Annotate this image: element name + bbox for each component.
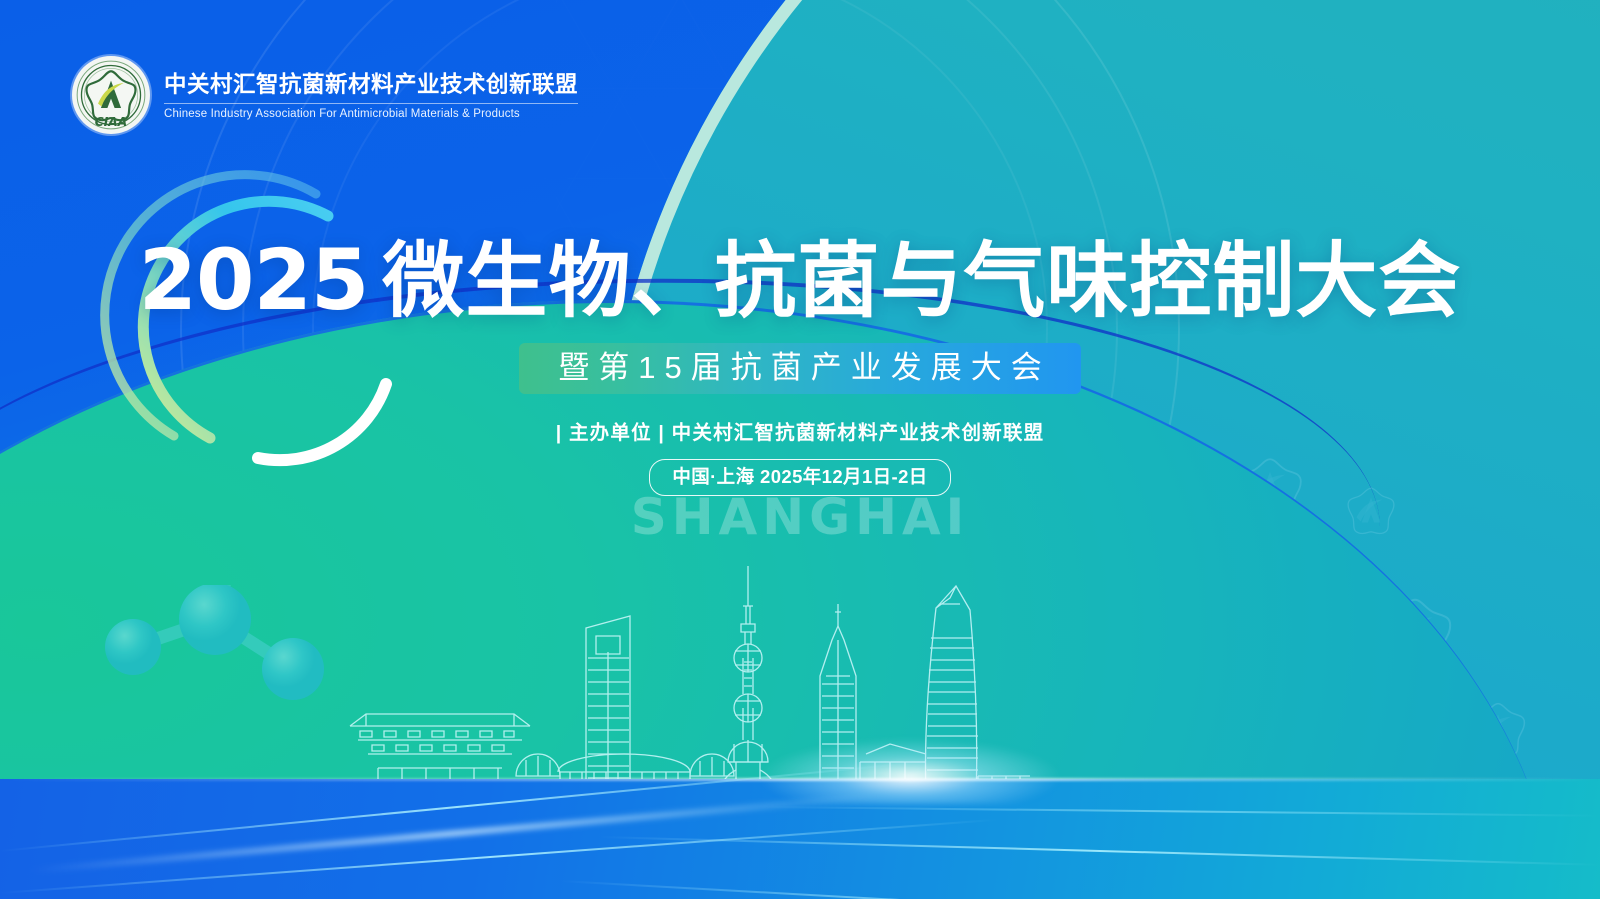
organizer-line: | 主办单位 | 中关村汇智抗菌新材料产业技术创新联盟 — [0, 416, 1600, 445]
brand-text: 中关村汇智抗菌新材料产业技术创新联盟 Chinese Industry Asso… — [164, 70, 578, 120]
main-title: 2025微生物、抗菌与气味控制大会 — [139, 238, 1462, 323]
brand-name-cn: 中关村汇智抗菌新材料产业技术创新联盟 — [164, 72, 578, 98]
title-text-cn: 微生物、抗菌与气味控制大会 — [382, 241, 1461, 323]
subtitle-banner: 暨第15届抗菌产业发展大会 — [519, 343, 1080, 394]
brand-divider — [164, 103, 578, 104]
title-year: 2025 — [139, 238, 369, 322]
vanishing-point-glow — [700, 714, 1120, 804]
logo-letters: CIAA — [95, 115, 127, 129]
brand-name-en: Chinese Industry Association For Antimic… — [164, 108, 578, 120]
city-name-en: SHANGHAI — [0, 490, 1600, 545]
hero-title-block: 2025微生物、抗菌与气味控制大会 暨第15届抗菌产业发展大会 | 主办单位 |… — [0, 238, 1600, 545]
ciaa-circular-emblem-icon: CIAA — [72, 56, 150, 134]
conference-poster: CIAA 中关村汇智抗菌新材料产业技术创新联盟 Chinese Industry… — [0, 0, 1600, 899]
brand-logo[interactable]: CIAA 中关村汇智抗菌新材料产业技术创新联盟 Chinese Industry… — [72, 56, 578, 134]
